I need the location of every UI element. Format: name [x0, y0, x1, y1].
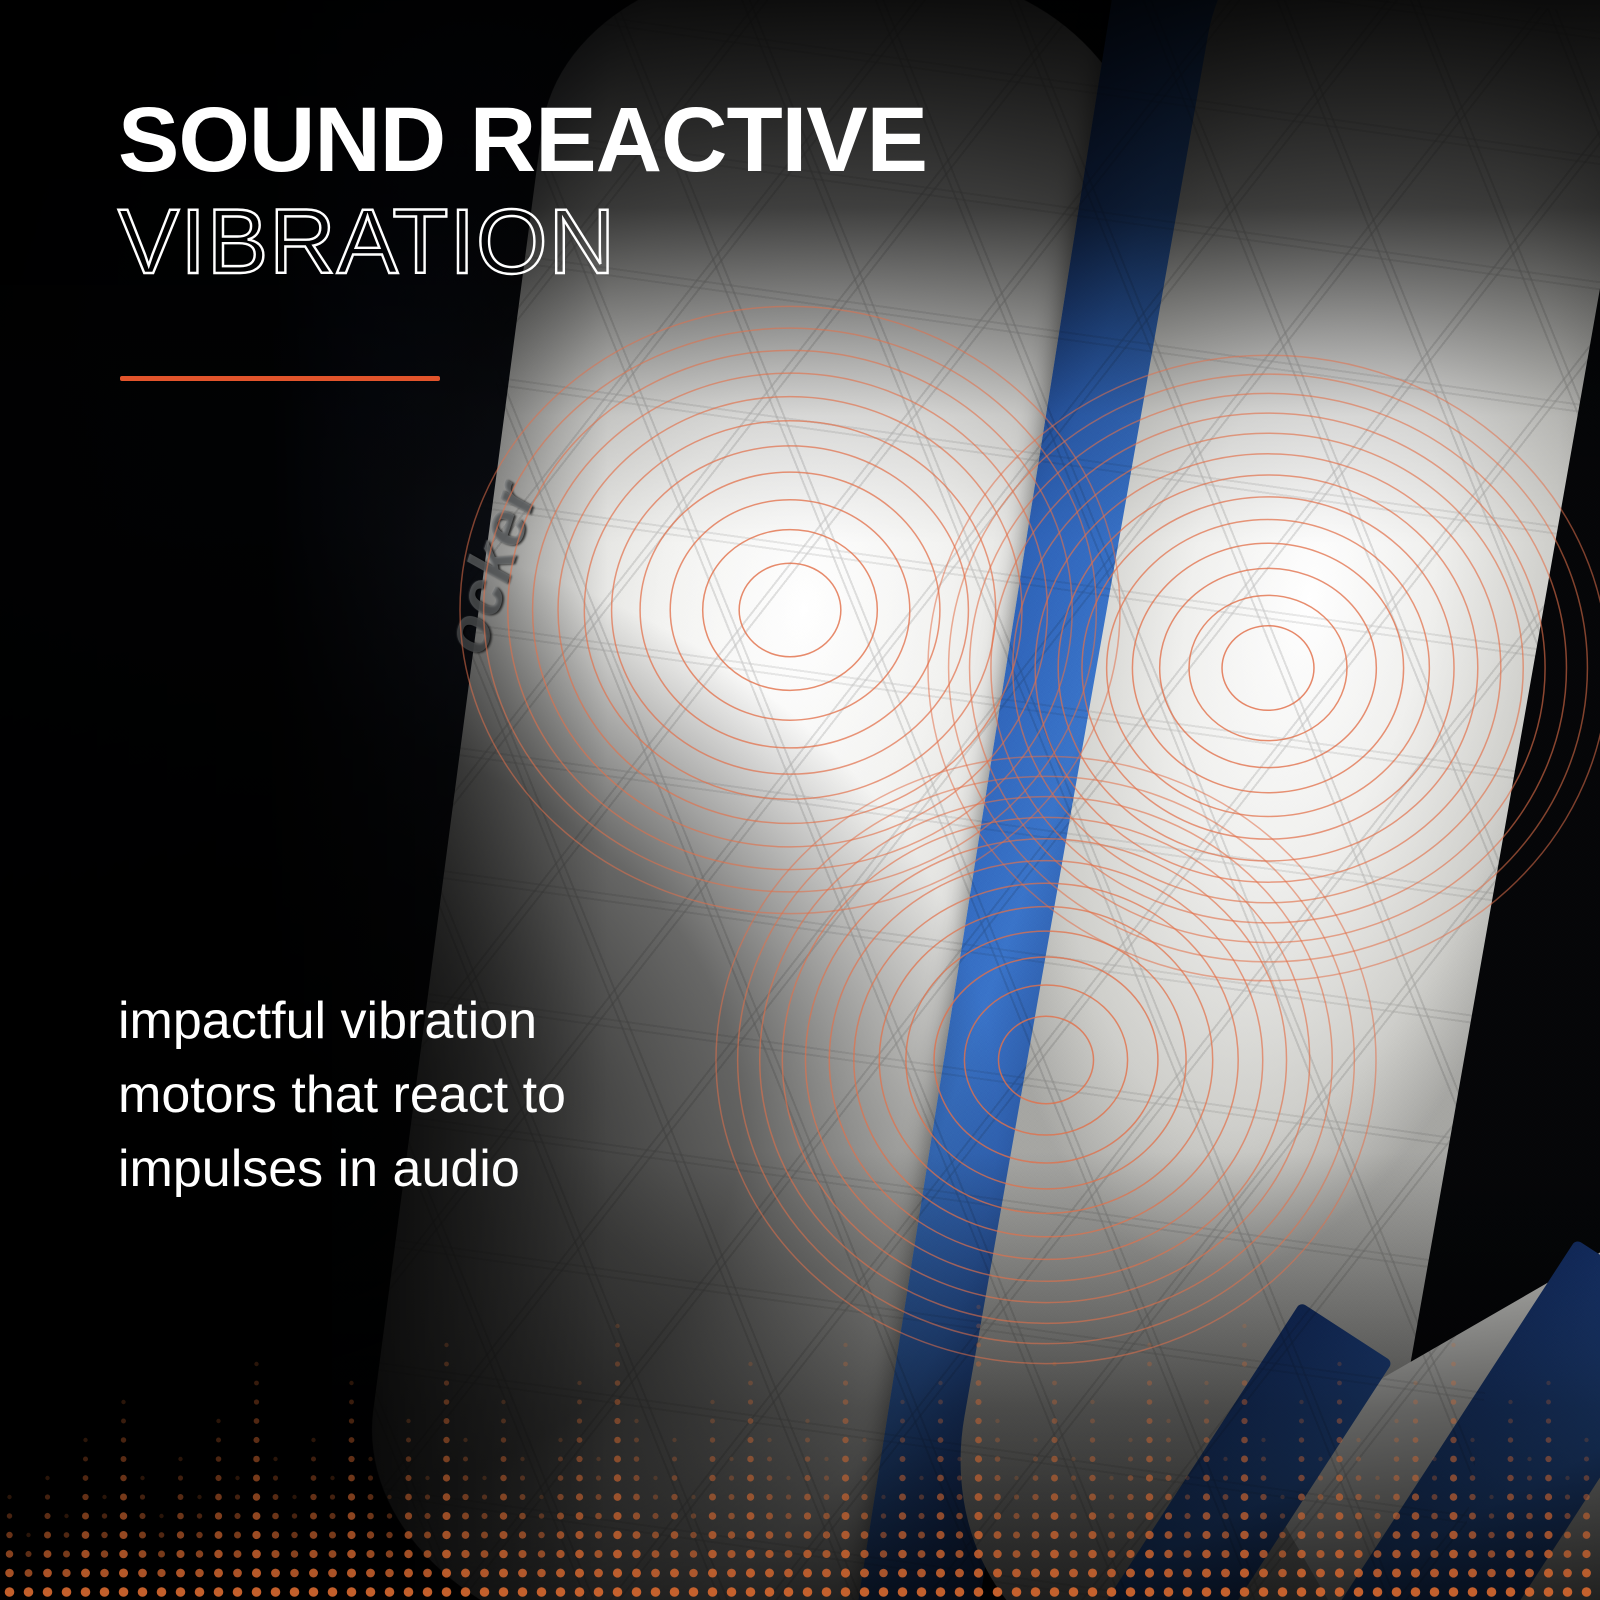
product-feature-card: ocker SOUND REACTIVE VIBRATION impactful…: [0, 0, 1600, 1600]
headline-primary: SOUND REACTIVE: [118, 96, 927, 184]
accent-rule: [120, 376, 440, 381]
body-line-1: impactful vibration: [118, 985, 718, 1059]
body-line-3: impulses in audio: [118, 1133, 718, 1207]
headline-secondary-outlined: VIBRATION: [118, 198, 616, 286]
body-copy: impactful vibration motors that react to…: [118, 985, 718, 1206]
body-line-2: motors that react to: [118, 1059, 718, 1133]
